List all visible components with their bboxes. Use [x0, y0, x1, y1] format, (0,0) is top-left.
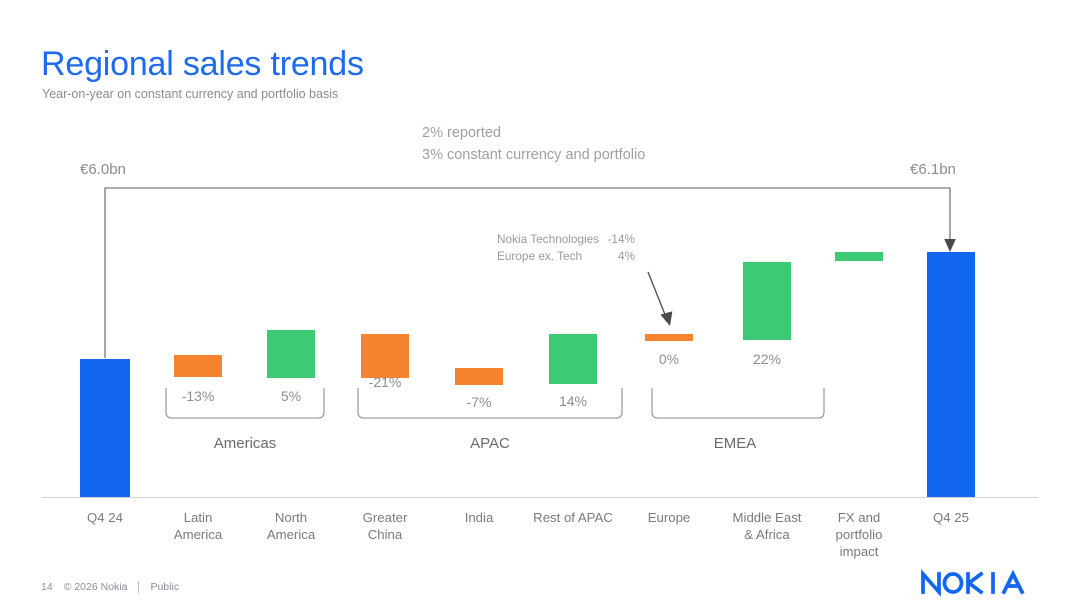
- data-label-middle-east-africa: 22%: [727, 351, 807, 367]
- x-label-line: America: [251, 526, 331, 543]
- x-label-line: FX and: [819, 509, 899, 526]
- x-label-line: China: [345, 526, 425, 543]
- data-label-greater-china: -21%: [345, 374, 425, 390]
- x-label-q4-25: Q4 25: [911, 509, 991, 526]
- x-label-line: Rest of APAC: [517, 509, 629, 526]
- x-label-india: India: [439, 509, 519, 526]
- bar-fx-portfolio-impact: [835, 252, 883, 261]
- callout-europe-ex-tech-label: Europe ex. Tech: [497, 248, 601, 265]
- end-total-label: €6.1bn: [910, 161, 956, 178]
- start-total-label: €6.0bn: [80, 161, 126, 178]
- x-label-greater-china: Greater China: [345, 509, 425, 543]
- growth-annotation: 2% reported 3% constant currency and por…: [422, 122, 645, 166]
- footer-copyright: © 2026 Nokia: [64, 581, 128, 593]
- x-label-line: Greater: [345, 509, 425, 526]
- reported-growth-text: 2% reported: [422, 122, 645, 144]
- callout-row: Nokia Technologies -14%: [497, 231, 635, 248]
- bar-india: [455, 368, 503, 385]
- bar-europe: [645, 334, 693, 341]
- group-label-apac: APAC: [430, 435, 550, 452]
- x-label-line: Q4 25: [911, 509, 991, 526]
- bar-middle-east-africa: [743, 262, 791, 340]
- page-subtitle: Year-on-year on constant currency and po…: [42, 86, 338, 102]
- x-label-fx-portfolio-impact: FX and portfolio impact: [819, 509, 899, 560]
- x-label-line: Middle East: [712, 509, 822, 526]
- bar-north-america: [267, 330, 315, 378]
- x-label-q4-24: Q4 24: [65, 509, 145, 526]
- bar-q4-25: [927, 252, 975, 497]
- x-label-line: portfolio: [819, 526, 899, 543]
- slide: Regional sales trends Year-on-year on co…: [0, 0, 1080, 604]
- data-label-india: -7%: [439, 394, 519, 410]
- x-label-line: America: [158, 526, 238, 543]
- footer-classification: Public: [150, 581, 179, 593]
- data-label-rest-of-apac: 14%: [533, 393, 613, 409]
- europe-callout: Nokia Technologies -14% Europe ex. Tech …: [497, 231, 635, 264]
- footer: 14 © 2026 Nokia Public: [41, 581, 179, 593]
- x-label-north-america: North America: [251, 509, 331, 543]
- x-label-middle-east-africa: Middle East & Africa: [712, 509, 822, 543]
- x-label-line: North: [251, 509, 331, 526]
- data-label-latin-america: -13%: [158, 388, 238, 404]
- data-label-north-america: 5%: [251, 388, 331, 404]
- x-label-line: impact: [819, 543, 899, 560]
- x-label-latin-america: Latin America: [158, 509, 238, 543]
- constant-currency-growth-text: 3% constant currency and portfolio: [422, 144, 645, 166]
- x-label-line: Latin: [158, 509, 238, 526]
- footer-page-number: 14: [41, 581, 53, 593]
- bar-greater-china: [361, 334, 409, 378]
- x-label-line: Q4 24: [65, 509, 145, 526]
- footer-divider: [138, 581, 139, 593]
- bar-q4-24: [80, 359, 130, 497]
- x-label-line: India: [439, 509, 519, 526]
- callout-nokia-technologies-value: -14%: [601, 231, 635, 248]
- x-label-line: Europe: [629, 509, 709, 526]
- x-label-europe: Europe: [629, 509, 709, 526]
- x-label-line: & Africa: [712, 526, 822, 543]
- group-label-americas: Americas: [185, 435, 305, 452]
- page-title: Regional sales trends: [41, 44, 364, 84]
- x-label-rest-of-apac: Rest of APAC: [517, 509, 629, 526]
- callout-nokia-technologies-label: Nokia Technologies: [497, 231, 601, 248]
- callout-row: Europe ex. Tech 4%: [497, 248, 635, 265]
- nokia-logo: [920, 568, 1040, 598]
- bar-latin-america: [174, 355, 222, 377]
- x-axis-line: [42, 497, 1038, 498]
- data-label-europe: 0%: [629, 351, 709, 367]
- callout-europe-ex-tech-value: 4%: [601, 248, 635, 265]
- group-label-emea: EMEA: [675, 435, 795, 452]
- bar-rest-of-apac: [549, 334, 597, 384]
